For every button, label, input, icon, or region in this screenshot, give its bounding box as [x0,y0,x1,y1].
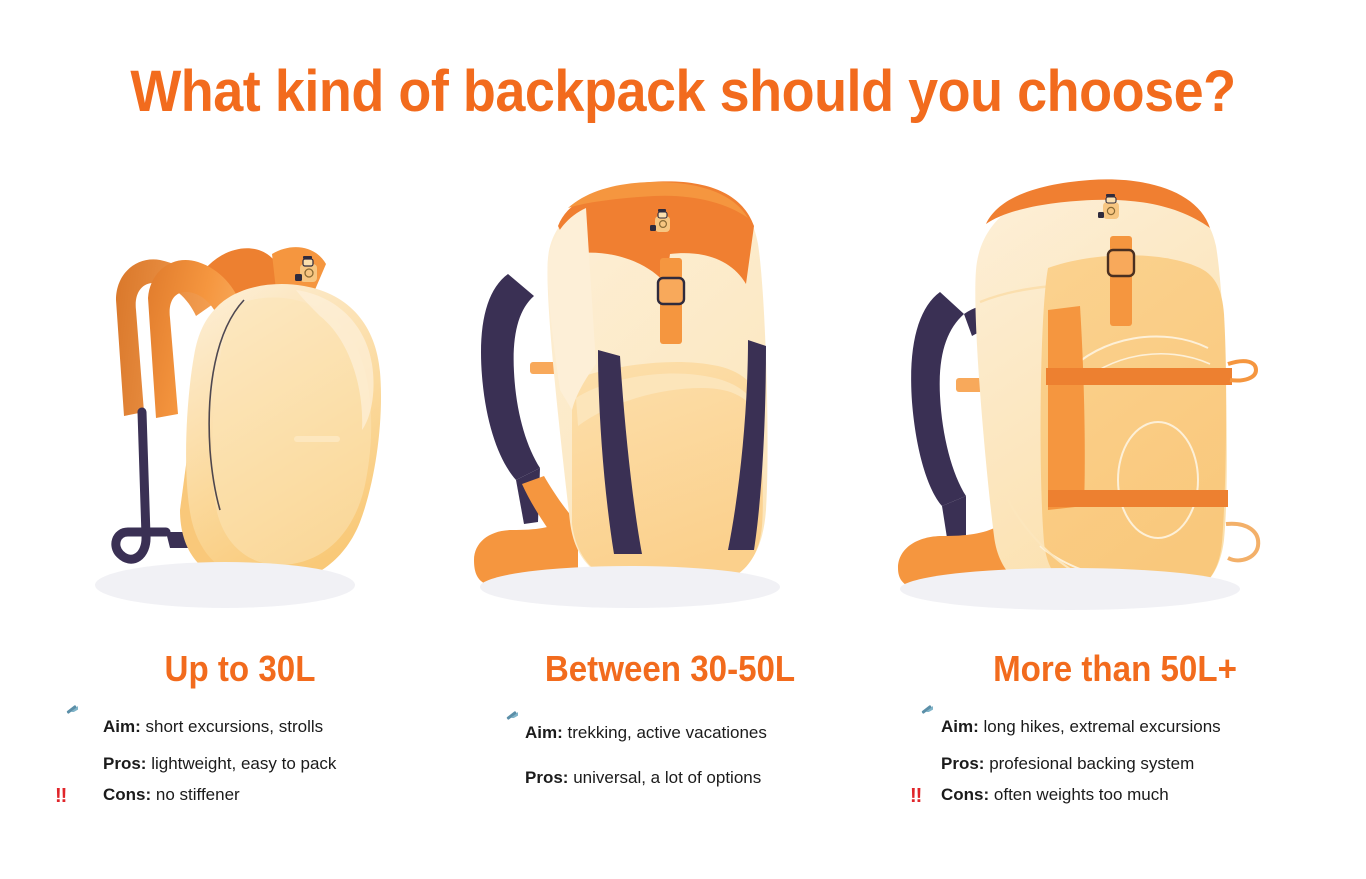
bullet-label: Aim: [941,717,979,736]
double-bang-icon: !! [910,784,932,806]
brand-wordmark [294,436,340,442]
navy-shoulder-harness [911,292,966,506]
bullet-list-between-30-50l: Aim: trekking, active vacationes Pros: u… [495,716,767,806]
target-icon [910,710,932,732]
bullet-text: often weights too much [989,785,1169,804]
compression-strap-lower [1048,490,1228,507]
pack-shadow [900,568,1240,610]
bullet-pros: Pros: profesional backing system [910,747,1221,772]
infographic-page: What kind of backpack should you choose? [0,0,1366,879]
bullet-aim: Aim: short excursions, strolls [55,710,336,735]
expedition-pack-svg [880,150,1350,630]
side-loop-lower [1226,524,1258,561]
bullet-aim: Aim: trekking, active vacationes [495,716,767,741]
column-between-30-50l: Between 30-50L Aim: trekking, active vac… [460,150,880,850]
bullet-pros: Pros: universal, a lot of options [495,761,767,786]
bullet-text: no stiffener [151,785,240,804]
trekking-pack-svg [460,150,880,630]
bullet-text: long hikes, extremal excursions [979,717,1221,736]
bullet-cons: !! Cons: often weights too much [910,784,1221,806]
bullet-text: profesional backing system [984,754,1194,773]
daypack-illustration [20,150,460,630]
heading-more-than-50l: More than 50L+ [899,648,1331,690]
pack-shadow [95,562,355,608]
heading-up-to-30l: Up to 30L [38,648,443,690]
column-more-than-50l: More than 50L+ Aim: long hikes, extremal… [880,150,1350,850]
bullet-list-up-to-30l: Aim: short excursions, strolls Pros: lig… [55,710,336,818]
bullet-label: Cons: [103,785,151,804]
bullet-label: Aim: [103,717,141,736]
bullet-text: universal, a lot of options [568,768,761,787]
daypack-svg [20,150,460,630]
column-up-to-30l: Up to 30L Aim: short excursions, strolls… [20,150,460,850]
strap-buckle [1108,250,1134,276]
navy-shoulder-harness [481,274,540,480]
target-icon [55,710,77,732]
navy-cord [116,412,166,559]
bullet-aim: Aim: long hikes, extremal excursions [910,710,1221,735]
bullet-label: Pros: [941,754,984,773]
trekking-pack-illustration [460,150,880,630]
vertical-harness-band [1048,306,1085,510]
bullet-text: short excursions, strolls [141,717,323,736]
check-box-icon [495,761,517,783]
bullet-label: Aim: [525,723,563,742]
double-bang-icon: !! [55,784,77,806]
side-loop-upper [1228,361,1256,380]
target-icon [495,716,517,738]
compression-strap-upper [1046,368,1232,385]
bullet-pros: Pros: lightweight, easy to pack [55,747,336,772]
bullet-cons: !! Cons: no stiffener [55,784,336,806]
heading-between-30-50l: Between 30-50L [477,648,863,690]
bullet-label: Pros: [525,768,568,787]
bullet-list-more-than-50l: Aim: long hikes, extremal excursions Pro… [910,710,1221,818]
page-title: What kind of backpack should you choose? [48,58,1318,125]
bullet-label: Pros: [103,754,146,773]
bullet-text: lightweight, easy to pack [146,754,336,773]
expedition-pack-illustration [880,150,1350,630]
check-box-icon [55,747,77,769]
check-box-icon [910,747,932,769]
bullet-text: trekking, active vacationes [563,723,767,742]
bullet-label: Cons: [941,785,989,804]
strap-buckle [658,278,684,304]
pack-shadow [480,566,780,608]
